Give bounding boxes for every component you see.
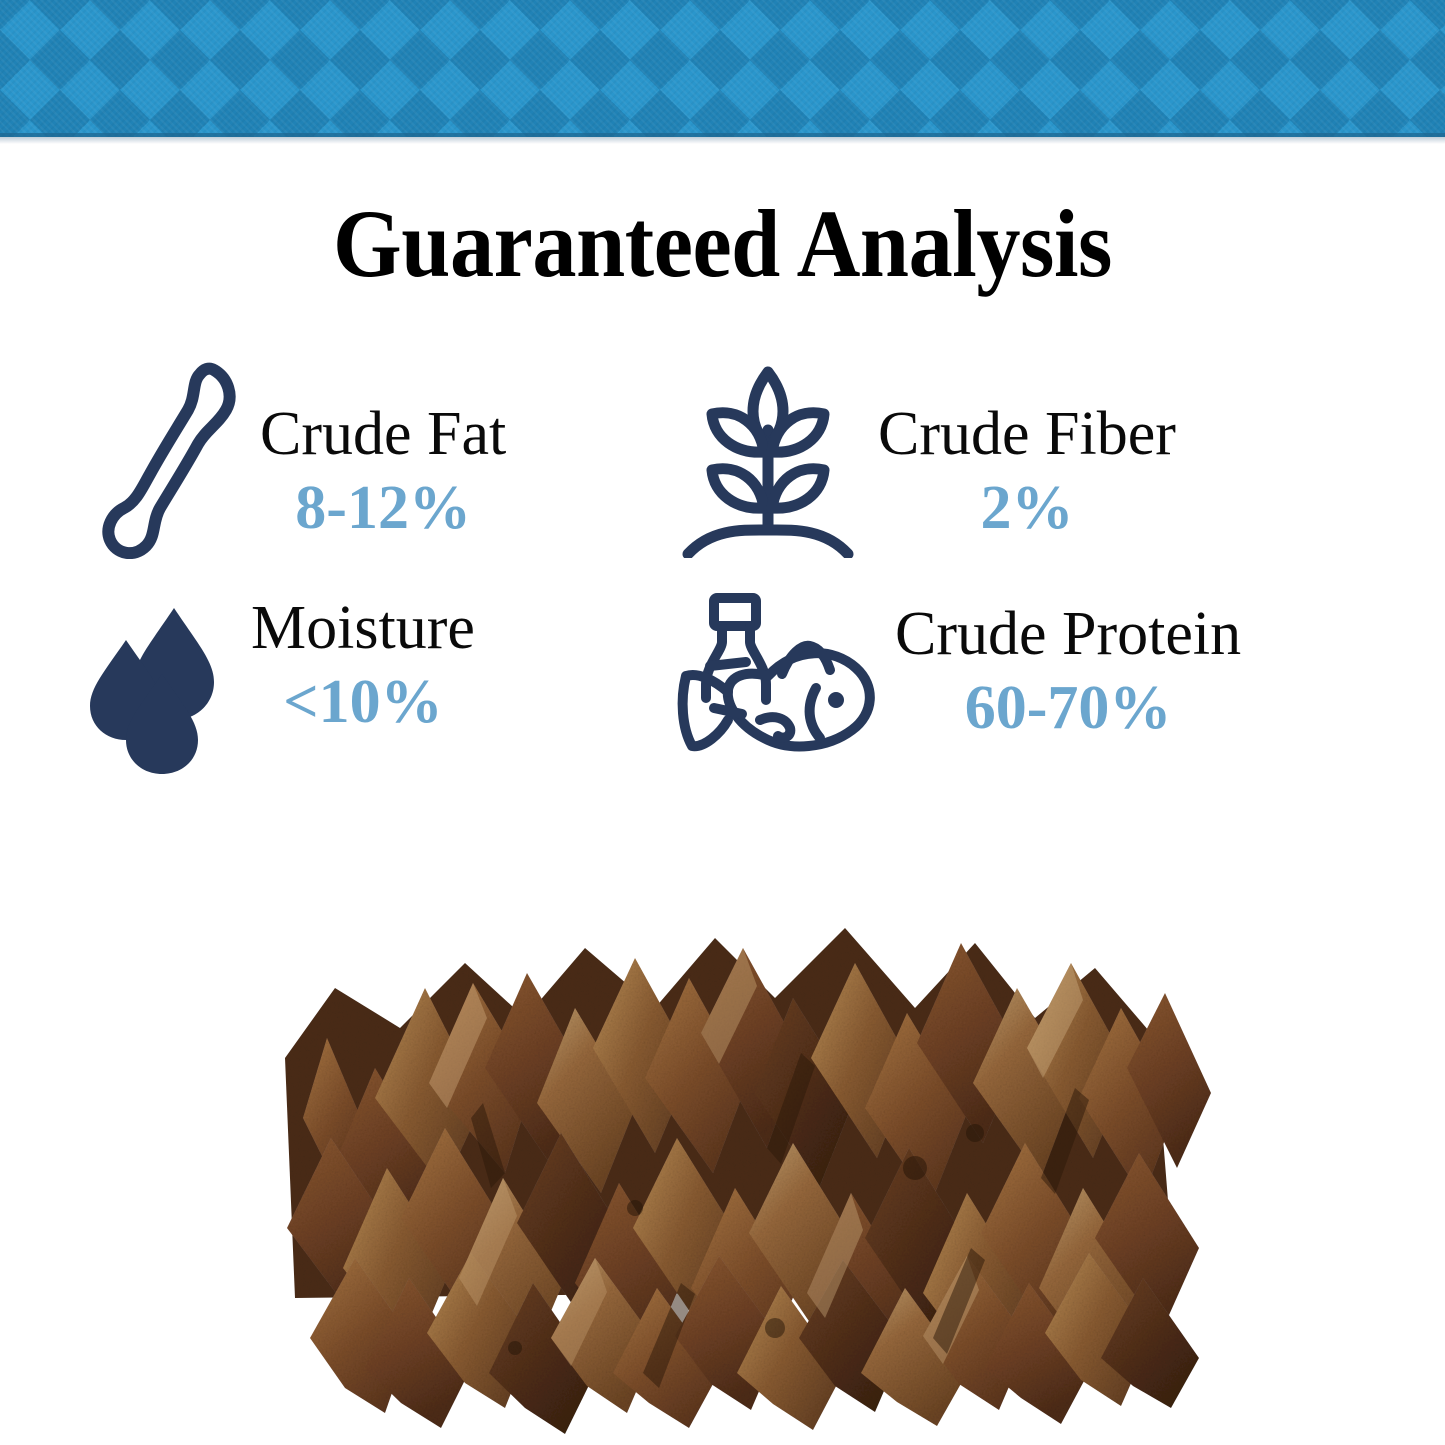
plaid-weave-texture (0, 0, 1445, 137)
jerky-pile (215, 868, 1225, 1438)
stat-label: Crude Fat (260, 402, 506, 467)
guaranteed-analysis-grid: Crude Fat 8-12% (70, 348, 1400, 808)
stat-crude-fiber: Crude Fiber 2% (670, 348, 1400, 588)
plaid-header-band (0, 0, 1445, 137)
stat-crude-fat: Crude Fat 8-12% (70, 348, 670, 588)
stat-crude-fiber-text: Crude Fiber 2% (878, 402, 1176, 551)
stat-crude-protein: Crude Protein 60-70% (670, 588, 1400, 808)
stat-label: Crude Protein (895, 602, 1241, 667)
page-root: Guaranteed Analysis Crude Fat 8-12% (0, 0, 1445, 1445)
stat-label: Crude Fiber (878, 402, 1176, 467)
stat-moisture-text: Moisture <10% (251, 596, 475, 745)
plant-icon (678, 358, 858, 558)
droplets-icon (86, 602, 241, 777)
stat-value: 8-12% (295, 467, 471, 551)
product-photo (0, 860, 1445, 1445)
stat-crude-protein-text: Crude Protein 60-70% (895, 602, 1241, 751)
stat-label: Moisture (251, 596, 475, 661)
header-drop-shadow (0, 137, 1445, 144)
fish-icon (670, 588, 885, 773)
stat-value: 2% (980, 467, 1073, 551)
page-title: Guaranteed Analysis (58, 192, 1387, 296)
stat-value: <10% (283, 661, 442, 745)
stat-crude-fat-text: Crude Fat 8-12% (260, 402, 506, 551)
bone-icon (98, 354, 238, 559)
stat-value: 60-70% (965, 667, 1172, 751)
stat-moisture: Moisture <10% (70, 588, 670, 808)
